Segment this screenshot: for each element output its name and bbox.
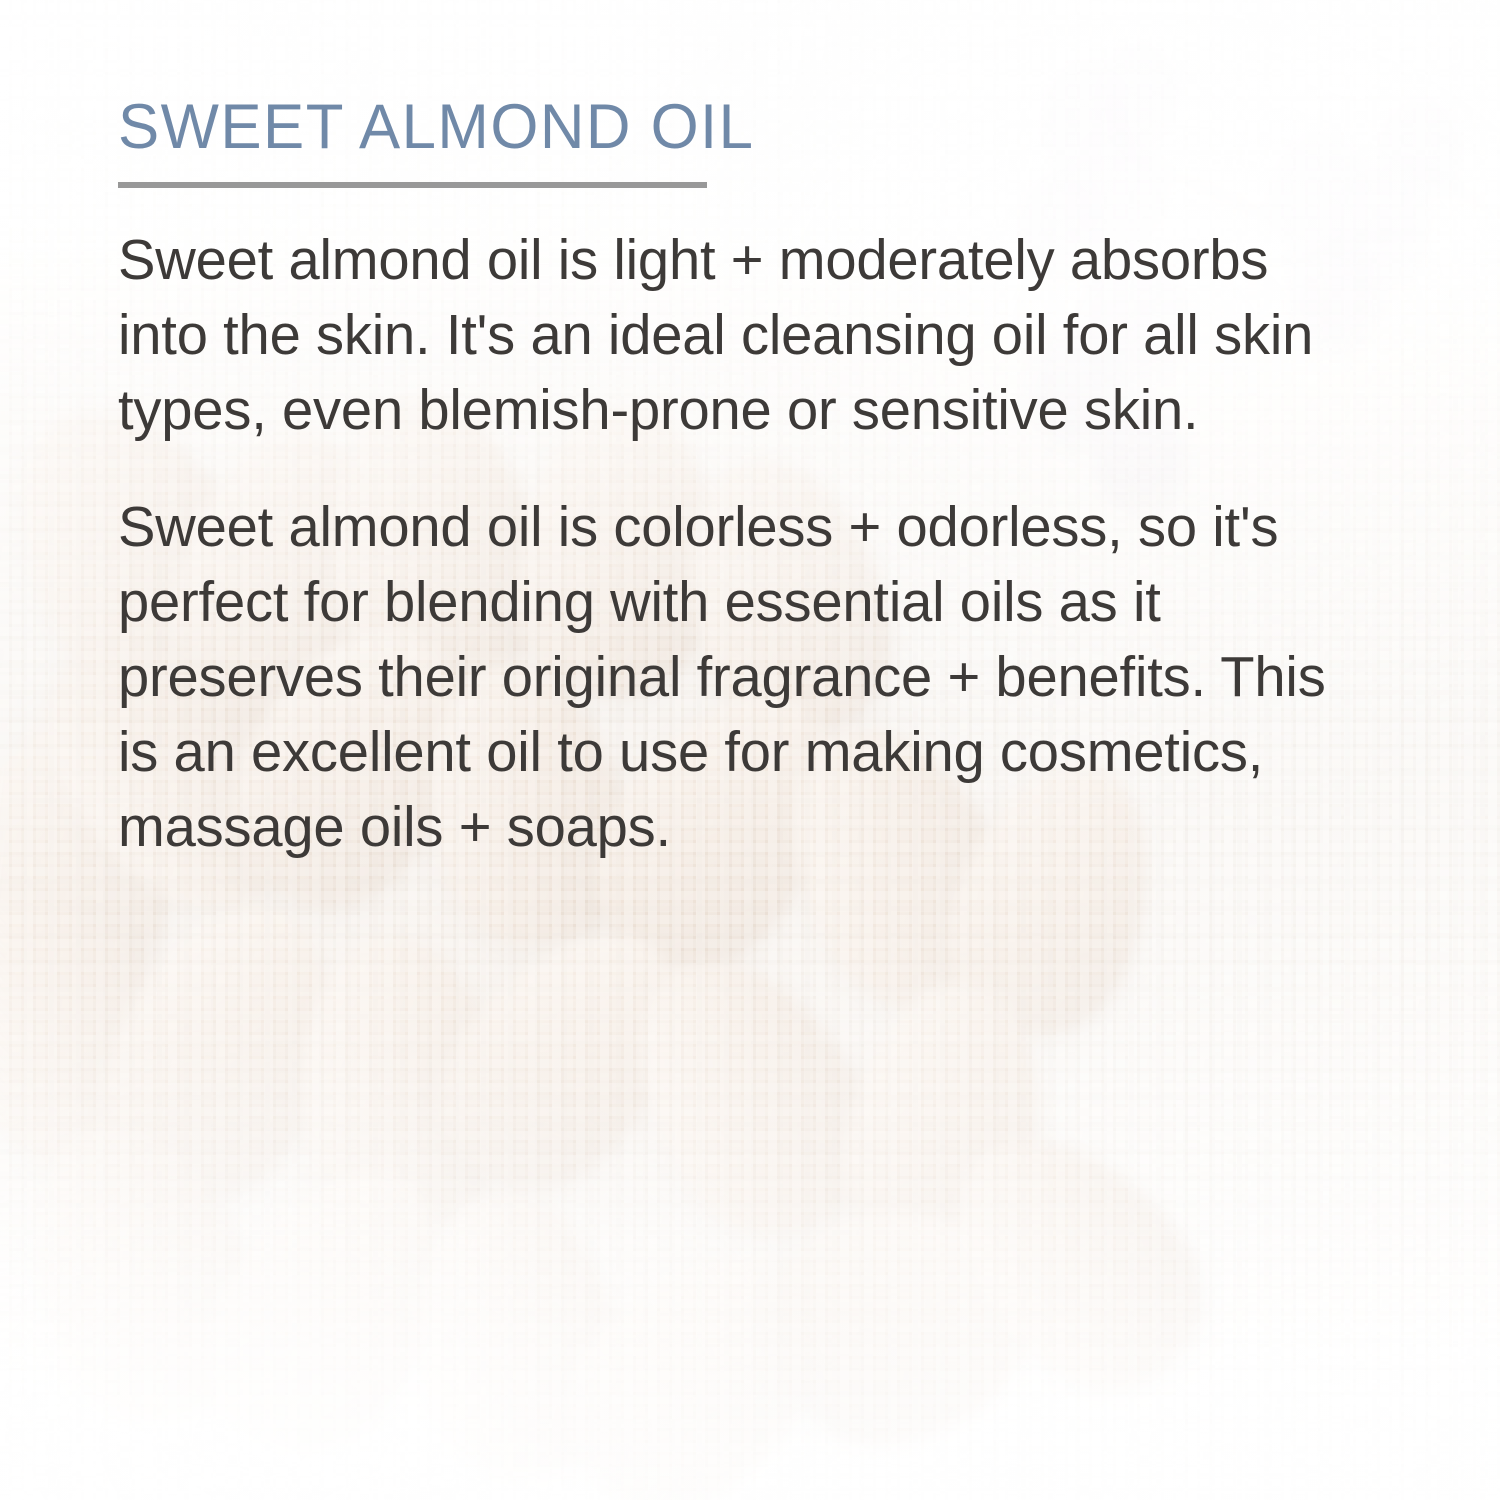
description-paragraph-2: Sweet almond oil is colorless + odorless… (118, 490, 1361, 865)
product-info-card: SWEET ALMOND OIL Sweet almond oil is lig… (0, 0, 1500, 1500)
description-paragraph-1: Sweet almond oil is light + moderately a… (118, 223, 1361, 448)
title-divider (118, 182, 707, 188)
page-title: SWEET ALMOND OIL (118, 96, 1365, 159)
card-content: SWEET ALMOND OIL Sweet almond oil is lig… (118, 96, 1390, 865)
description-body: Sweet almond oil is light + moderately a… (118, 223, 1390, 865)
